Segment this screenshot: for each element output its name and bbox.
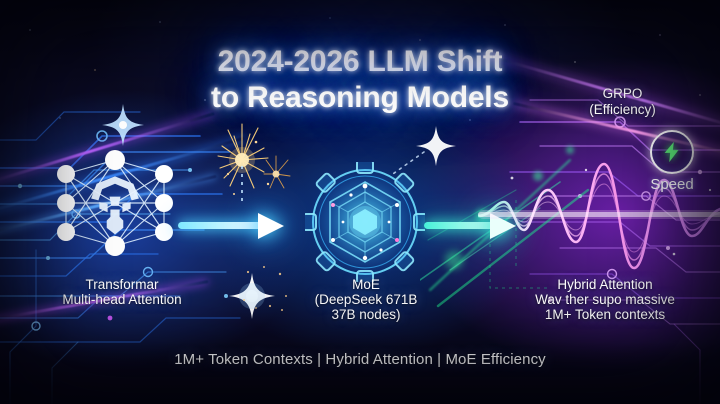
firework-burst-graphic (216, 112, 302, 204)
transformer-network-graphic (52, 140, 178, 266)
grpo-line-2: (Efficiency) (589, 102, 656, 117)
title-line-1: 2024-2026 LLM Shift (218, 45, 503, 78)
lightning-bolt-icon (661, 140, 683, 164)
moe-core-graphic (305, 162, 425, 282)
stage-label-line-1: MoE (352, 277, 380, 292)
sparkle-star-icon (102, 104, 144, 146)
stage-label-line-1: Hybrid Attention (557, 277, 652, 292)
stage-label-line-2: (DeepSeek 671B (315, 292, 418, 307)
speed-label: Speed (626, 176, 718, 193)
stage-label-moe: MoE (DeepSeek 671B 37B nodes) (280, 277, 452, 322)
stage-label-line-2: Multi-head Attention (62, 292, 181, 307)
poster-caption: 1M+ Token Contexts | Hybrid Attention | … (0, 351, 720, 368)
grpo-line-1: GRPO (603, 86, 643, 101)
arrow-head (258, 213, 284, 239)
stage-label-line-1: Transformar (85, 277, 158, 292)
stage-label-hybrid-attention: Hybrid Attention Wav ther supo massive 1… (495, 277, 715, 322)
stage-label-line-3: 1M+ Token contexts (545, 307, 665, 322)
neural-network-transformer-icon (52, 140, 178, 266)
grpo-annotation: GRPO (Efficiency) (540, 86, 705, 118)
stage-label-line-3: 37B nodes) (331, 307, 400, 322)
stage-label-line-2: Wav ther supo massive (535, 292, 675, 307)
hexagon-core-icon (305, 162, 425, 282)
speed-badge[interactable] (650, 130, 694, 174)
arrow-shaft (178, 222, 266, 229)
stage-label-transformer: Transformar Multi-head Attention (18, 277, 226, 307)
poster-canvas: 2024-2026 LLM Shift to Reasoning Models (0, 0, 720, 404)
